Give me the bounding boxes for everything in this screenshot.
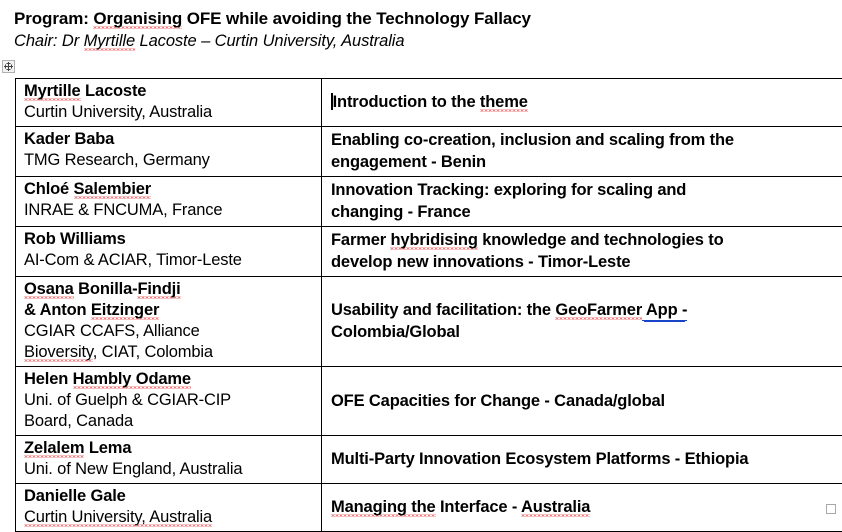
table-resize-grip-icon[interactable] bbox=[826, 504, 836, 514]
speaker-name: Myrtille Lacoste bbox=[24, 81, 317, 102]
talk-title: Managing the Interface - Australia bbox=[331, 496, 842, 518]
talk-title-line-1: Farmer hybridising knowledge and technol… bbox=[331, 229, 842, 251]
speaker-affiliation: TMG Research, Germany bbox=[24, 150, 317, 171]
talk-title: Introduction to the theme bbox=[331, 91, 842, 113]
talk-title-misspelled-2: Australia bbox=[521, 498, 590, 517]
speaker-cell[interactable]: Rob Williams AI-Com & ACIAR, Timor-Leste bbox=[16, 227, 322, 277]
talk-title-line-1: Enabling co-creation, inclusion and scal… bbox=[331, 129, 842, 151]
speaker-affiliation-line-2: Bioversity, CIAT, Colombia bbox=[24, 342, 317, 363]
speaker-name-mid: Bonilla- bbox=[74, 280, 138, 298]
speaker-affiliation-line-1: CGIAR CCAFS, Alliance bbox=[24, 321, 317, 342]
title-cell[interactable]: Farmer hybridising knowledge and technol… bbox=[322, 227, 842, 277]
speaker-name-rest: Lacoste bbox=[81, 82, 147, 100]
speaker-name-misspelled: Zelalem bbox=[24, 439, 84, 458]
speaker-cell[interactable]: Danielle Gale Curtin University, Austral… bbox=[16, 484, 322, 532]
speaker-name-misspelled-a: Osana bbox=[24, 280, 74, 299]
table-row[interactable]: Chloé Salembier INRAE & FNCUMA, France I… bbox=[16, 177, 842, 227]
title-cell[interactable]: Multi-Party Innovation Ecosystem Platfor… bbox=[322, 436, 842, 484]
talk-title: OFE Capacities for Change - Canada/globa… bbox=[331, 390, 842, 412]
talk-title-misspelled-1: Managing the bbox=[331, 498, 436, 517]
document-page: Program: Organising OFE while avoiding t… bbox=[0, 0, 842, 522]
table-row[interactable]: Zelalem Lema Uni. of New England, Austra… bbox=[16, 436, 842, 484]
document-header: Program: Organising OFE while avoiding t… bbox=[14, 8, 814, 52]
talk-title-line-2: develop new innovations - Timor-Leste bbox=[331, 251, 842, 273]
talk-title-grammar-flag: App - bbox=[642, 301, 687, 321]
chair-line: Chair: Dr Myrtille Lacoste – Curtin Univ… bbox=[14, 30, 814, 52]
program-heading-misspelled-word: Organising bbox=[93, 9, 182, 29]
speaker-name: Helen Hambly Odame bbox=[24, 369, 317, 390]
speaker-name: Chloé Salembier bbox=[24, 179, 317, 200]
talk-title-suffix: knowledge and technologies to bbox=[478, 231, 724, 249]
speaker-name-rest: Lema bbox=[84, 439, 131, 457]
speaker-name-misspelled: Myrtille bbox=[24, 82, 81, 101]
table-row[interactable]: Danielle Gale Curtin University, Austral… bbox=[16, 484, 842, 532]
affiliation-misspelled: Curtin University, Australia bbox=[24, 508, 212, 527]
speaker-affiliation: INRAE & FNCUMA, France bbox=[24, 200, 317, 221]
table-move-handle-icon[interactable] bbox=[2, 60, 15, 73]
speaker-name: Rob Williams bbox=[24, 229, 317, 250]
program-heading: Program: Organising OFE while avoiding t… bbox=[14, 8, 814, 30]
speaker-name-misspelled: Salembier bbox=[74, 180, 152, 199]
title-cell[interactable]: Managing the Interface - Australia bbox=[322, 484, 842, 532]
speaker-cell[interactable]: Osana Bonilla-Findji & Anton Eitzinger C… bbox=[16, 277, 322, 367]
talk-title-misspelled: hybridising bbox=[390, 231, 477, 250]
title-cell[interactable]: OFE Capacities for Change - Canada/globa… bbox=[322, 367, 842, 436]
table-row[interactable]: Osana Bonilla-Findji & Anton Eitzinger C… bbox=[16, 277, 842, 367]
speaker-affiliation: Curtin University, Australia bbox=[24, 102, 317, 123]
speaker-affiliation-line-1: Uni. of Guelph & CGIAR-CIP bbox=[24, 390, 317, 411]
table-row[interactable]: Myrtille Lacoste Curtin University, Aust… bbox=[16, 79, 842, 127]
chair-line-suffix: Lacoste – Curtin University, Australia bbox=[135, 32, 404, 50]
speaker-affiliation: Uni. of New England, Australia bbox=[24, 459, 317, 480]
table-row[interactable]: Helen Hambly Odame Uni. of Guelph & CGIA… bbox=[16, 367, 842, 436]
talk-title-line-2: changing - France bbox=[331, 201, 842, 223]
chair-line-prefix: Chair: Dr bbox=[14, 32, 84, 50]
talk-title: Multi-Party Innovation Ecosystem Platfor… bbox=[331, 448, 842, 470]
title-cell[interactable]: Introduction to the theme bbox=[322, 79, 842, 127]
speaker-cell[interactable]: Myrtille Lacoste Curtin University, Aust… bbox=[16, 79, 322, 127]
talk-title-prefix: Introduction to the bbox=[333, 93, 480, 111]
speaker-affiliation: Curtin University, Australia bbox=[24, 507, 317, 528]
speaker-name-line-2: & Anton Eitzinger bbox=[24, 300, 317, 321]
talk-title-line-1: Innovation Tracking: exploring for scali… bbox=[331, 179, 842, 201]
talk-title-line-2: Colombia/Global bbox=[331, 321, 842, 343]
title-cell[interactable]: Usability and facilitation: the GeoFarme… bbox=[322, 277, 842, 367]
affiliation-rest: , CIAT, Colombia bbox=[93, 343, 213, 361]
speaker-cell[interactable]: Kader Baba TMG Research, Germany bbox=[16, 127, 322, 177]
speaker-affiliation-line-2: Board, Canada bbox=[24, 411, 317, 432]
speaker-affiliation: AI-Com & ACIAR, Timor-Leste bbox=[24, 250, 317, 271]
program-table[interactable]: Myrtille Lacoste Curtin University, Aust… bbox=[15, 78, 842, 532]
table-row[interactable]: Rob Williams AI-Com & ACIAR, Timor-Leste… bbox=[16, 227, 842, 277]
title-cell[interactable]: Enabling co-creation, inclusion and scal… bbox=[322, 127, 842, 177]
program-heading-suffix: OFE while avoiding the Technology Fallac… bbox=[182, 9, 531, 28]
talk-title-misspelled: theme bbox=[480, 93, 528, 112]
speaker-cell[interactable]: Chloé Salembier INRAE & FNCUMA, France bbox=[16, 177, 322, 227]
talk-title-prefix: Farmer bbox=[331, 231, 390, 249]
speaker-name-misspelled: Hambly Odame bbox=[73, 370, 191, 389]
speaker-cell[interactable]: Helen Hambly Odame Uni. of Guelph & CGIA… bbox=[16, 367, 322, 436]
speaker-name-plain: Chloé bbox=[24, 180, 74, 198]
talk-title-middle: Interface - bbox=[436, 498, 521, 516]
speaker-name-plain: & Anton bbox=[24, 301, 91, 319]
speaker-name: Zelalem Lema bbox=[24, 438, 317, 459]
talk-title-prefix: Usability and facilitation: the bbox=[331, 301, 555, 319]
table-row[interactable]: Kader Baba TMG Research, Germany Enablin… bbox=[16, 127, 842, 177]
talk-title-misspelled: GeoFarmer bbox=[555, 301, 642, 320]
title-cell[interactable]: Innovation Tracking: exploring for scali… bbox=[322, 177, 842, 227]
talk-title-line-2: engagement - Benin bbox=[331, 151, 842, 173]
program-heading-prefix: Program: bbox=[14, 9, 93, 28]
speaker-cell[interactable]: Zelalem Lema Uni. of New England, Austra… bbox=[16, 436, 322, 484]
affiliation-misspelled: Bioversity bbox=[24, 343, 93, 362]
speaker-name-misspelled-c: Eitzinger bbox=[91, 301, 159, 320]
chair-line-misspelled-word: Myrtille bbox=[84, 32, 135, 51]
speaker-name-line-1: Osana Bonilla-Findji bbox=[24, 279, 317, 300]
speaker-name-plain: Helen bbox=[24, 370, 73, 388]
talk-title-line-1: Usability and facilitation: the GeoFarme… bbox=[331, 299, 842, 321]
speaker-name: Kader Baba bbox=[24, 129, 317, 150]
speaker-name-misspelled-b: Findji bbox=[137, 280, 180, 299]
speaker-name: Danielle Gale bbox=[24, 486, 317, 507]
